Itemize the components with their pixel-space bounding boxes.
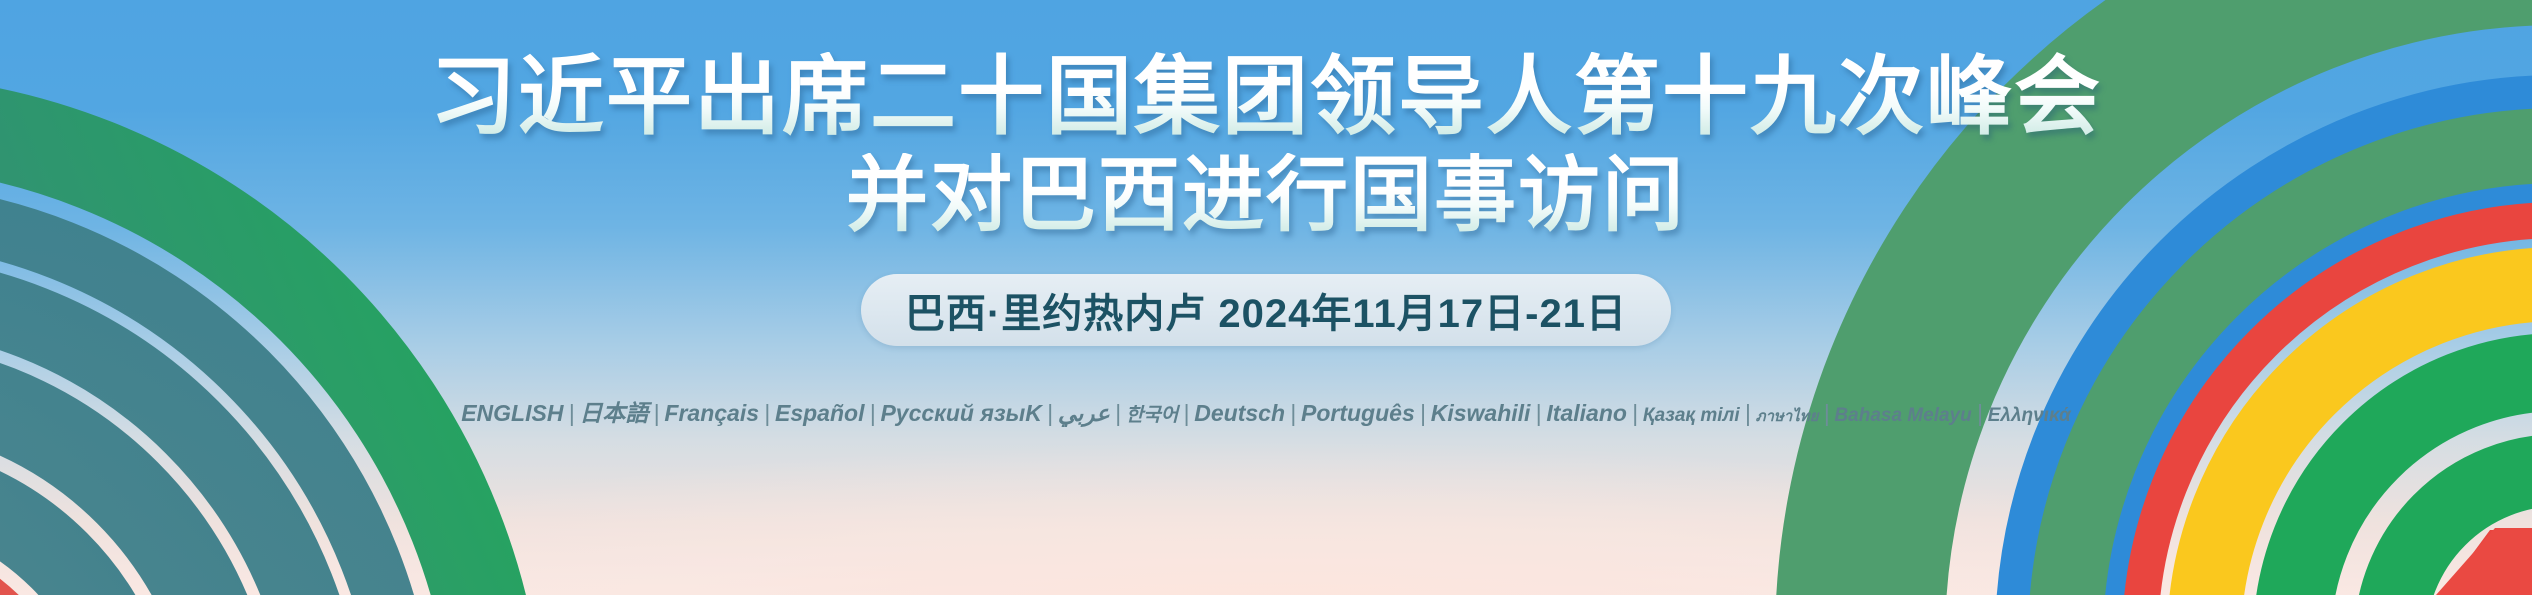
language-link[interactable]: Deutsch (1194, 400, 1285, 427)
language-separator: | (1972, 400, 1988, 427)
language-selector-bar[interactable]: ENGLISH|日本語|Français|Español|Русский язы… (461, 394, 2071, 428)
language-link[interactable]: عربي (1058, 400, 1110, 427)
language-link[interactable]: Ελληνικά (1988, 405, 2071, 427)
language-link[interactable]: Italiano (1546, 400, 1627, 427)
event-date-badge: 巴西·里约热内卢 2024年11月17日-21日 (861, 274, 1671, 346)
language-separator: | (1178, 400, 1194, 427)
language-link[interactable]: Português (1301, 400, 1415, 427)
summit-banner: 习近平出席二十国集团领导人第十九次峰会 并对巴西进行国事访问 巴西·里约热内卢 … (0, 0, 2532, 595)
language-separator: | (563, 400, 579, 427)
language-link[interactable]: Bahasa Melayu (1834, 405, 1971, 427)
language-link[interactable]: 한국어 (1126, 400, 1178, 427)
language-separator: | (864, 400, 880, 427)
language-separator: | (1110, 400, 1126, 427)
event-date-text: 巴西·里约热内卢 2024年11月17日-21日 (905, 281, 1627, 339)
language-link[interactable]: ENGLISH (461, 400, 563, 427)
language-separator: | (1818, 400, 1834, 427)
page-title-line-1: 习近平出席二十国集团领导人第十九次峰会 (430, 52, 2102, 143)
language-separator: | (1285, 400, 1301, 427)
language-link[interactable]: ภาษาไทย (1756, 404, 1819, 428)
language-separator: | (1415, 400, 1431, 427)
language-link[interactable]: Русский языK (880, 400, 1041, 427)
banner-content: 习近平出席二十国集团领导人第十九次峰会 并对巴西进行国事访问 巴西·里约热内卢 … (0, 0, 2532, 595)
language-separator: | (759, 400, 775, 427)
language-link[interactable]: Français (664, 400, 759, 427)
language-separator: | (1740, 400, 1756, 427)
language-link[interactable]: Kiswahili (1431, 400, 1531, 427)
language-separator: | (648, 400, 664, 427)
language-link[interactable]: Español (775, 400, 864, 427)
language-separator: | (1627, 400, 1643, 427)
language-separator: | (1042, 400, 1058, 427)
page-title-line-2: 并对巴西进行国事访问 (846, 153, 1686, 240)
language-link[interactable]: Қазақ тілі (1643, 405, 1740, 427)
language-link[interactable]: 日本語 (579, 394, 648, 428)
language-separator: | (1530, 400, 1546, 427)
